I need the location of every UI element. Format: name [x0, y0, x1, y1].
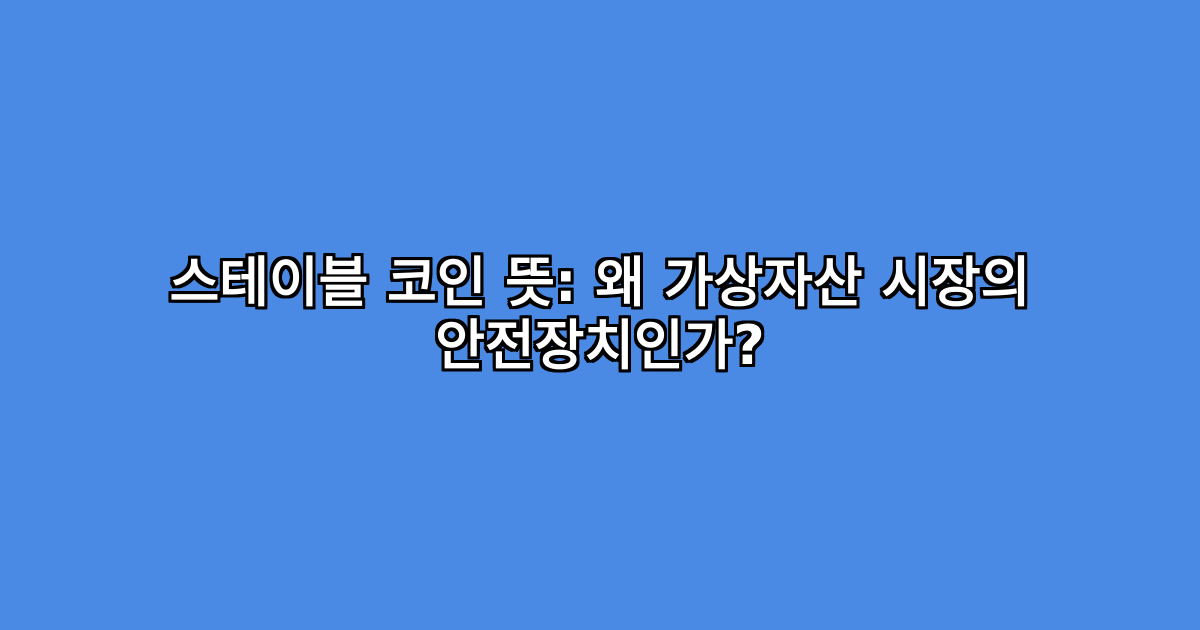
page-title-line-1: 스테이블 코인 뜻: 왜 가상자산 시장의	[100, 252, 1100, 315]
title-block: 스테이블 코인 뜻: 왜 가상자산 시장의 안전장치인가?	[80, 252, 1120, 377]
page-title-line-2: 안전장치인가?	[100, 315, 1100, 378]
page-title: 스테이블 코인 뜻: 왜 가상자산 시장의 안전장치인가?	[100, 252, 1100, 377]
og-card-canvas: 스테이블 코인 뜻: 왜 가상자산 시장의 안전장치인가?	[0, 0, 1200, 630]
